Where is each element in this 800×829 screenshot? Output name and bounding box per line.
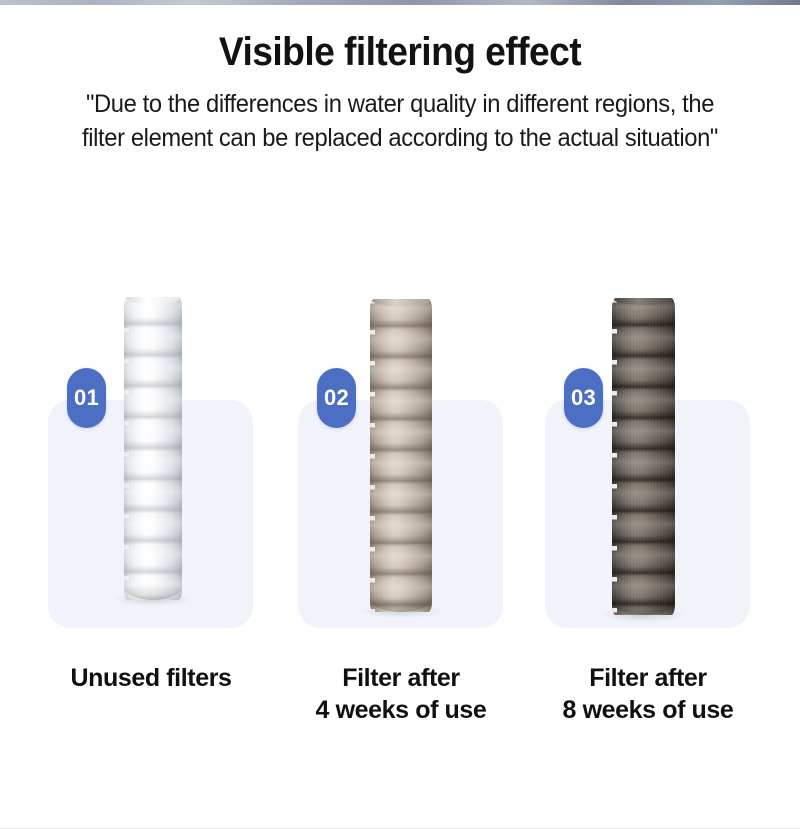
page-title: Visible filtering effect (28, 30, 772, 75)
filter-edge-notches-1 (124, 297, 129, 600)
filter-caption-line1-3: Filter after (589, 664, 706, 692)
filter-caption-line2-2: 4 weeks of use (276, 695, 526, 727)
filter-caption-line1-1: Unused filters (70, 664, 231, 692)
filter-grain-3 (612, 298, 675, 615)
filter-caption-1: Unused filters (26, 663, 276, 695)
page-subtitle: "Due to the differences in water quality… (68, 87, 733, 155)
step-badge-2: 02 (317, 368, 356, 428)
filter-cylinder-2 (370, 299, 432, 612)
filter-comparison-item-1: 01 Unused filters (26, 280, 276, 750)
step-badge-label-2: 02 (324, 387, 349, 409)
step-badge-label-3: 03 (571, 387, 596, 409)
filter-caption-line1-2: Filter after (342, 664, 459, 692)
heading-block: Visible filtering effect "Due to the dif… (0, 30, 800, 155)
filter-caption-3: Filter after 8 weeks of use (523, 663, 773, 726)
step-badge-3: 03 (564, 368, 603, 428)
filter-comparison-item-3: 03 Filter after 8 weeks of use (523, 280, 773, 750)
filter-cylinder-3 (612, 298, 675, 615)
filter-grain-2 (370, 299, 432, 612)
step-badge-label-1: 01 (74, 387, 99, 409)
top-image-strip (0, 0, 800, 5)
filter-cylinder-1 (124, 297, 182, 600)
filter-edge-notches-3 (612, 298, 617, 615)
filter-comparison-group: 01 Unused filters 02 Filter after 4 week… (0, 280, 800, 750)
filter-caption-line2-3: 8 weeks of use (523, 695, 773, 727)
filter-edge-notches-2 (370, 299, 375, 612)
filter-caption-2: Filter after 4 weeks of use (276, 663, 526, 726)
step-badge-1: 01 (67, 368, 106, 428)
filter-grain-1 (124, 297, 182, 600)
filter-comparison-item-2: 02 Filter after 4 weeks of use (276, 280, 526, 750)
